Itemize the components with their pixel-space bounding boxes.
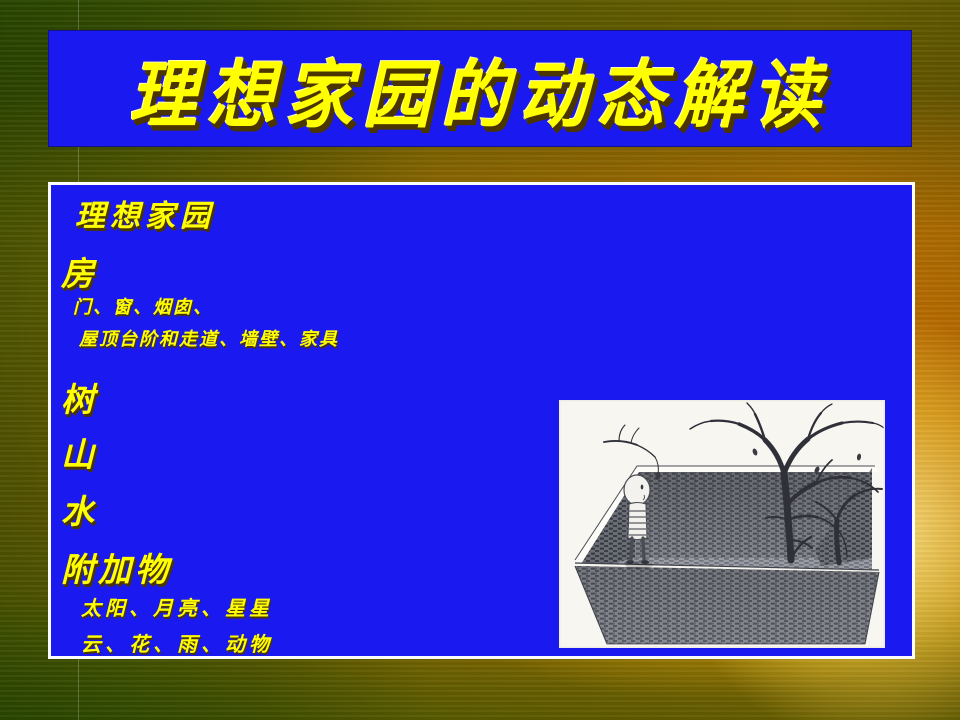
outline-sub-house-parts-1: 门、窗、烟囱、: [73, 293, 213, 319]
slide-content-box: 理想家园 房 门、窗、烟囱、 屋顶台阶和走道、墙壁、家具 树 山 水 附加物 太…: [48, 182, 915, 659]
slide-background: 理想家园的动态解读 理想家园 房 门、窗、烟囱、 屋顶台阶和走道、墙壁、家具 树…: [0, 0, 960, 720]
outline-item-extras: 附加物: [61, 543, 172, 591]
outline-item-mountain: 山: [61, 428, 98, 476]
outline-sub-extras-2: 云、花、雨、动物: [81, 628, 273, 657]
pencil-drawing-svg: [559, 400, 885, 648]
outline-sub-extras-1: 太阳、月亮、星星: [81, 592, 273, 621]
outline-item-house: 房: [61, 247, 98, 295]
slide-title-box: 理想家园的动态解读: [48, 30, 912, 147]
outline-sub-house-parts-2: 屋顶台阶和走道、墙壁、家具: [79, 325, 339, 351]
outline-item-water: 水: [61, 485, 98, 533]
illustration-image: [559, 400, 885, 648]
content-heading: 理想家园: [75, 191, 215, 235]
outline-text-column: 理想家园 房 门、窗、烟囱、 屋顶台阶和走道、墙壁、家具 树 山 水 附加物 太…: [51, 185, 571, 656]
outline-item-tree: 树: [61, 373, 98, 421]
page-title: 理想家园的动态解读: [129, 35, 831, 142]
